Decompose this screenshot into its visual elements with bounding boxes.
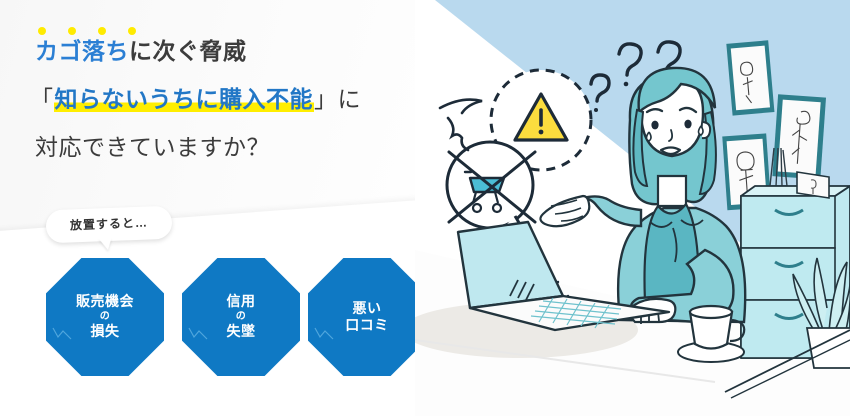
risk-badge-trust-loss[interactable]: 信用 の 失墜 <box>182 258 300 376</box>
risk-badge-line2: 失墜 <box>227 324 256 340</box>
dot-icon <box>98 27 106 35</box>
risk-badge-line2: 口コミ <box>345 318 389 334</box>
dot-icon <box>128 27 136 35</box>
headline-line-1: カゴ落ちに次ぐ脅威 <box>35 40 430 63</box>
spark-mark-icon <box>187 326 209 342</box>
spark-mark-icon <box>313 326 335 342</box>
dot-icon <box>68 27 76 35</box>
risk-badge-line1: 販売機会 <box>76 294 134 310</box>
banner-root: カゴ落ちに次ぐ脅威 「知らないうちに購入不能」に 対応できていますか？ 放置する… <box>0 0 850 416</box>
risk-badge-bad-reviews[interactable]: 悪い 口コミ <box>308 258 426 376</box>
risk-badge-line2: 損失 <box>76 324 134 340</box>
risk-badge-sales-loss[interactable]: 販売機会 の 損失 <box>46 258 164 376</box>
headline-line-1-emphasis: カゴ落ち <box>35 38 129 64</box>
headline-block: カゴ落ちに次ぐ脅威 「知らないうちに購入不能」に 対応できていますか？ <box>30 40 430 159</box>
risk-badge-connector: の <box>76 311 134 322</box>
risk-badge-text: 悪い 口コミ <box>345 301 389 334</box>
headline-line-2: 「知らないうちに購入不能」に <box>30 88 430 111</box>
dot-icon <box>38 27 46 35</box>
headline-line-1-rest: に次ぐ脅威 <box>129 38 247 64</box>
headline-line-2-highlight: 知らないうちに購入不能 <box>54 86 315 112</box>
risk-badge-line1: 信用 <box>227 294 256 310</box>
risk-badge-connector: の <box>227 311 256 322</box>
speech-bubble-label: 放置すると… <box>70 216 148 233</box>
risk-badge-text: 信用 の 失墜 <box>227 294 256 339</box>
decorative-dots <box>38 27 136 35</box>
risk-badge-line1: 悪い <box>345 301 389 317</box>
quote-close: 」に <box>314 86 361 112</box>
illustration <box>415 0 850 416</box>
spark-mark-icon <box>51 326 73 342</box>
quote-open: 「 <box>30 86 54 112</box>
headline-line-3: 対応できていますか？ <box>35 136 430 159</box>
risk-badge-text: 販売機会 の 損失 <box>76 294 134 339</box>
desk-photo-frame <box>797 172 829 198</box>
speech-bubble-warning: 放置すると… <box>45 206 172 244</box>
